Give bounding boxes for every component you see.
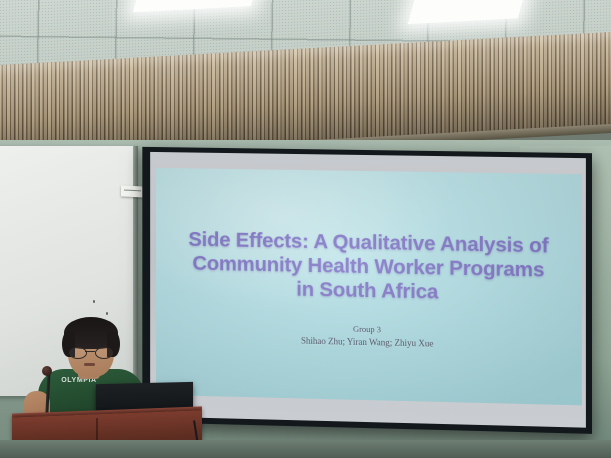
glasses-bridge xyxy=(85,351,95,352)
glasses-icon xyxy=(68,347,114,357)
lower-wall-strip xyxy=(0,440,611,458)
lecture-room-photo: Side Effects: A Qualitative Analysis of … xyxy=(0,0,611,458)
projection-screen-frame: Side Effects: A Qualitative Analysis of … xyxy=(142,147,592,434)
microphone-icon xyxy=(42,366,52,376)
projected-slide: Side Effects: A Qualitative Analysis of … xyxy=(156,168,582,406)
slide-vignette xyxy=(156,168,582,406)
wall-mark xyxy=(106,312,108,315)
wall-mark xyxy=(93,300,95,303)
presenter-mouth xyxy=(84,363,95,366)
sign-line xyxy=(124,190,141,192)
glasses-lens-right xyxy=(95,347,113,359)
glasses-lens-left xyxy=(69,347,87,359)
projection-screen-surface: Side Effects: A Qualitative Analysis of … xyxy=(150,152,586,428)
